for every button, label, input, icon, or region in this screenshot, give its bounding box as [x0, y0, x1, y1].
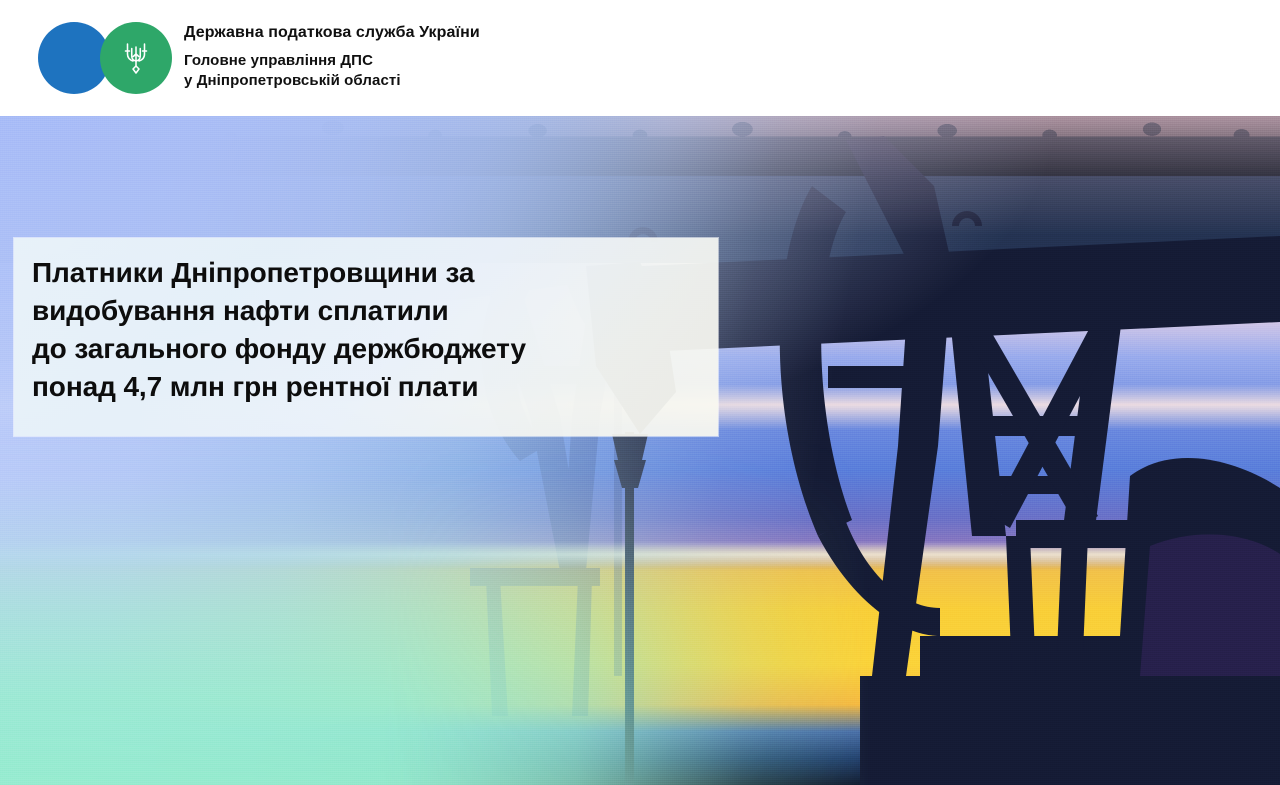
headline-line-3: до загального фонду держбюджету: [32, 330, 698, 368]
headline-line-1: Платники Дніпропетровщини за: [32, 254, 698, 292]
site-header: Державна податкова служба України Головн…: [0, 0, 1280, 116]
header-text-block: Державна податкова служба України Головн…: [184, 23, 1280, 94]
headline-line-2: видобування нафти сплатили: [32, 292, 698, 330]
dps-logo[interactable]: [32, 22, 180, 94]
headline-panel: Платники Дніпропетровщини за видобування…: [14, 238, 718, 436]
department-line-2: у Дніпропетровській області: [184, 71, 1280, 91]
news-banner-page: Державна податкова служба України Головн…: [0, 0, 1280, 785]
ukraine-trident-icon: [100, 22, 172, 94]
headline-line-4: понад 4,7 млн грн рентної плати: [32, 368, 698, 406]
department-line-1: Головне управління ДПС: [184, 51, 1280, 71]
photo-grain-overlay: [0, 116, 1280, 785]
hero-image: [0, 116, 1280, 785]
organization-title: Державна податкова служба України: [184, 23, 1280, 42]
